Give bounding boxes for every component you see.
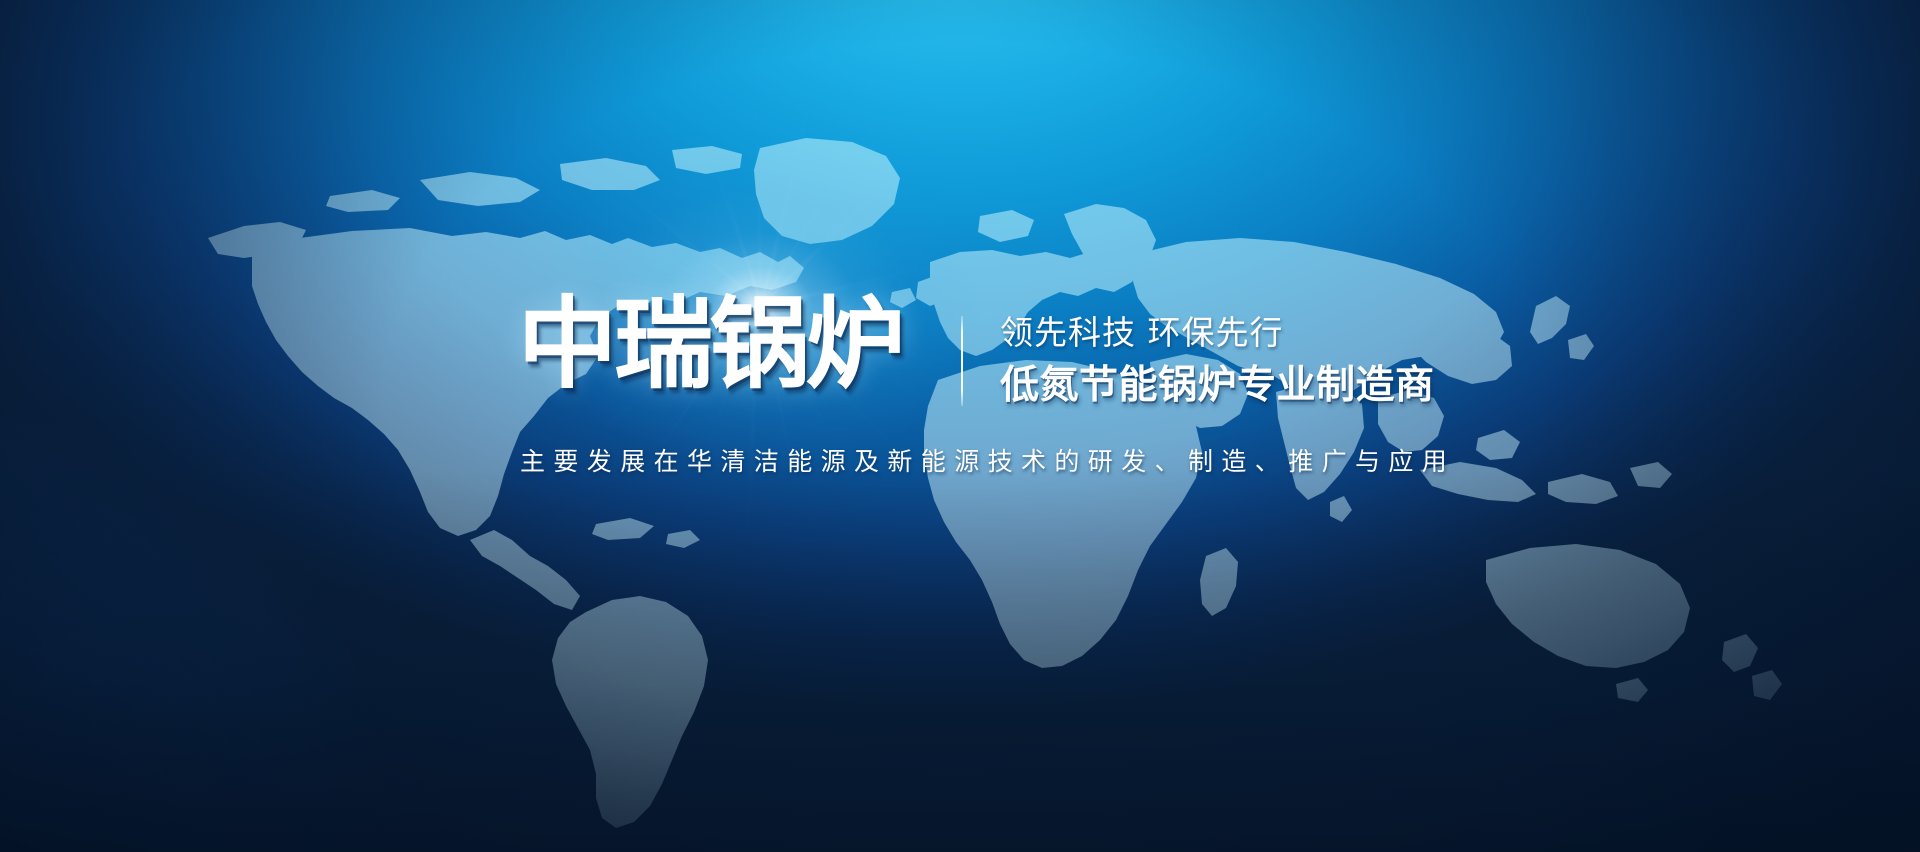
slogan-primary: 领先科技 环保先行 <box>1000 312 1560 354</box>
brand-logotype: 中瑞锅炉 <box>518 292 938 420</box>
hero-banner: 中瑞锅炉 领先科技 环保先行 低氮节能锅炉专业制造商 主要发展在华清洁能源及新能… <box>0 0 1920 852</box>
brand-name: 中瑞锅炉 <box>518 292 938 398</box>
vertical-divider <box>961 316 963 406</box>
banner-tagline: 主要发展在华清洁能源及新能源技术的研发、制造、推广与应用 <box>520 444 1455 480</box>
slogan-secondary: 低氮节能锅炉专业制造商 <box>1000 362 1560 410</box>
slogan-block: 领先科技 环保先行 低氮节能锅炉专业制造商 <box>1000 312 1560 410</box>
